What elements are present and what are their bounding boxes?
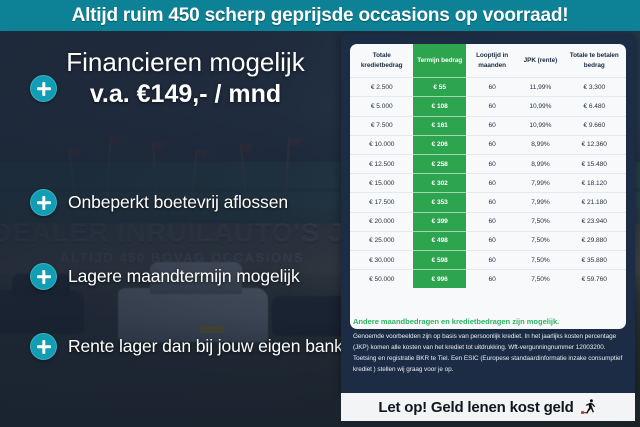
table-row: € 20.000€ 399607,50%€ 23.940 [350,212,626,231]
top-banner-text: Altijd ruim 450 scherp geprijsde occasio… [72,5,569,27]
cell-termijnbedrag: € 399 [413,212,465,231]
disclaimer-body: Genoemde voorbeelden zijn op basis van p… [353,331,625,375]
cell-looptijd: 60 [466,97,518,116]
cell-termijnbedrag: € 55 [413,78,465,97]
table-row: € 12.500€ 258608,99%€ 15.480 [350,154,626,173]
headline-line-2: v.a. €149,- / mnd [33,80,338,109]
disclaimer-block: Andere maandbedragen en kredietbedragen … [353,317,625,375]
cell-jpk: 7,50% [518,270,562,289]
cell-termijnbedrag: € 302 [413,174,465,193]
plus-icon [30,263,57,290]
cell-jpk: 7,99% [518,174,562,193]
cell-jpk: 11,99% [518,78,562,97]
col-header-termijnbedrag: Termijn bedrag [413,44,465,78]
cell-kredietbedrag: € 2.500 [350,78,413,97]
table-row: € 50.000€ 996607,50%€ 59.760 [350,270,626,289]
rate-table-container: Totale kredietbedrag Termijn bedrag Loop… [350,44,626,329]
walking-person-with-ball-and-chain-icon [580,398,598,416]
cell-looptijd: 60 [466,174,518,193]
cell-kredietbedrag: € 20.000 [350,212,413,231]
cell-jpk: 10,99% [518,97,562,116]
table-header-row: Totale kredietbedrag Termijn bedrag Loop… [350,44,626,78]
bullet-item-aflossen: Onbeperkt boetevrij aflossen [30,189,342,216]
cell-totaal: € 12.360 [563,135,627,154]
cell-jpk: 8,99% [518,135,562,154]
cell-kredietbedrag: € 10.000 [350,135,413,154]
col-header-jpk: JPK (rente) [518,44,562,78]
bullet-item-maandtermijn: Lagere maandtermijn mogelijk [30,263,342,290]
rate-table: Totale kredietbedrag Termijn bedrag Loop… [350,44,626,288]
cell-looptijd: 60 [466,193,518,212]
cell-looptijd: 60 [466,135,518,154]
cell-jpk: 7,50% [518,250,562,269]
cell-looptijd: 60 [466,78,518,97]
cell-kredietbedrag: € 7.500 [350,116,413,135]
bullet-label: Lagere maandtermijn mogelijk [68,266,300,287]
left-column: Financieren mogelijk v.a. €149,- / mnd O… [0,31,345,427]
cell-termijnbedrag: € 258 [413,154,465,173]
rate-table-head: Totale kredietbedrag Termijn bedrag Loop… [350,44,626,78]
cell-totaal: € 3.300 [563,78,627,97]
table-row: € 10.000€ 206608,99%€ 12.360 [350,135,626,154]
advertisement-banner: DEALER INRUILAUTO'S JOHAN MEURE ALTIJD 4… [0,0,640,427]
cell-kredietbedrag: € 25.000 [350,231,413,250]
bullet-label: Rente lager dan bij jouw eigen bank [68,336,343,357]
cell-totaal: € 29.880 [563,231,627,250]
cell-totaal: € 9.660 [563,116,627,135]
cell-looptijd: 60 [466,231,518,250]
cell-totaal: € 6.480 [563,97,627,116]
rate-card: Totale kredietbedrag Termijn bedrag Loop… [341,34,635,394]
cell-kredietbedrag: € 15.000 [350,174,413,193]
bullet-item-rente: Rente lager dan bij jouw eigen bank [30,333,342,360]
cell-totaal: € 18.120 [563,174,627,193]
cell-totaal: € 23.940 [563,212,627,231]
col-header-kredietbedrag: Totale kredietbedrag [350,44,413,78]
cell-termijnbedrag: € 161 [413,116,465,135]
cell-jpk: 7,99% [518,193,562,212]
cell-totaal: € 59.760 [563,270,627,289]
table-row: € 30.000€ 598607,50%€ 35.880 [350,250,626,269]
table-row: € 25.000€ 498607,50%€ 29.880 [350,231,626,250]
cell-termijnbedrag: € 108 [413,97,465,116]
col-header-looptijd: Looptijd in maanden [466,44,518,78]
cell-looptijd: 60 [466,154,518,173]
bullet-label: Onbeperkt boetevrij aflossen [68,192,288,213]
table-row: € 17.500€ 353607,99%€ 21.180 [350,193,626,212]
cell-looptijd: 60 [466,270,518,289]
headline-line-1: Financieren mogelijk [33,48,338,76]
table-row: € 5.000€ 1086010,99%€ 6.480 [350,97,626,116]
cell-kredietbedrag: € 5.000 [350,97,413,116]
cell-looptijd: 60 [466,212,518,231]
cell-jpk: 7,50% [518,212,562,231]
cell-kredietbedrag: € 30.000 [350,250,413,269]
cell-termijnbedrag: € 206 [413,135,465,154]
table-row: € 15.000€ 302607,99%€ 18.120 [350,174,626,193]
rate-table-body: € 2.500€ 556011,99%€ 3.300€ 5.000€ 10860… [350,78,626,289]
cell-jpk: 7,50% [518,231,562,250]
plus-icon [30,189,57,216]
cell-looptijd: 60 [466,250,518,269]
cell-termijnbedrag: € 598 [413,250,465,269]
cell-jpk: 10,99% [518,116,562,135]
cell-termijnbedrag: € 353 [413,193,465,212]
table-row: € 2.500€ 556011,99%€ 3.300 [350,78,626,97]
warning-strip: Let op! Geld lenen kost geld [341,393,635,421]
cell-termijnbedrag: € 498 [413,231,465,250]
col-header-totaal: Totale te betalen bedrag [563,44,627,78]
disclaimer-title: Andere maandbedragen en kredietbedragen … [353,317,625,326]
cell-totaal: € 21.180 [563,193,627,212]
cell-kredietbedrag: € 17.500 [350,193,413,212]
cell-totaal: € 15.480 [563,154,627,173]
headline-block: Financieren mogelijk v.a. €149,- / mnd [33,48,338,109]
cell-kredietbedrag: € 12.500 [350,154,413,173]
plus-icon [30,333,57,360]
warning-text: Let op! Geld lenen kost geld [378,399,573,416]
cell-termijnbedrag: € 996 [413,270,465,289]
cell-looptijd: 60 [466,116,518,135]
cell-kredietbedrag: € 50.000 [350,270,413,289]
cell-jpk: 8,99% [518,154,562,173]
top-banner: Altijd ruim 450 scherp geprijsde occasio… [0,0,640,31]
table-row: € 7.500€ 1616010,99%€ 9.660 [350,116,626,135]
cell-totaal: € 35.880 [563,250,627,269]
